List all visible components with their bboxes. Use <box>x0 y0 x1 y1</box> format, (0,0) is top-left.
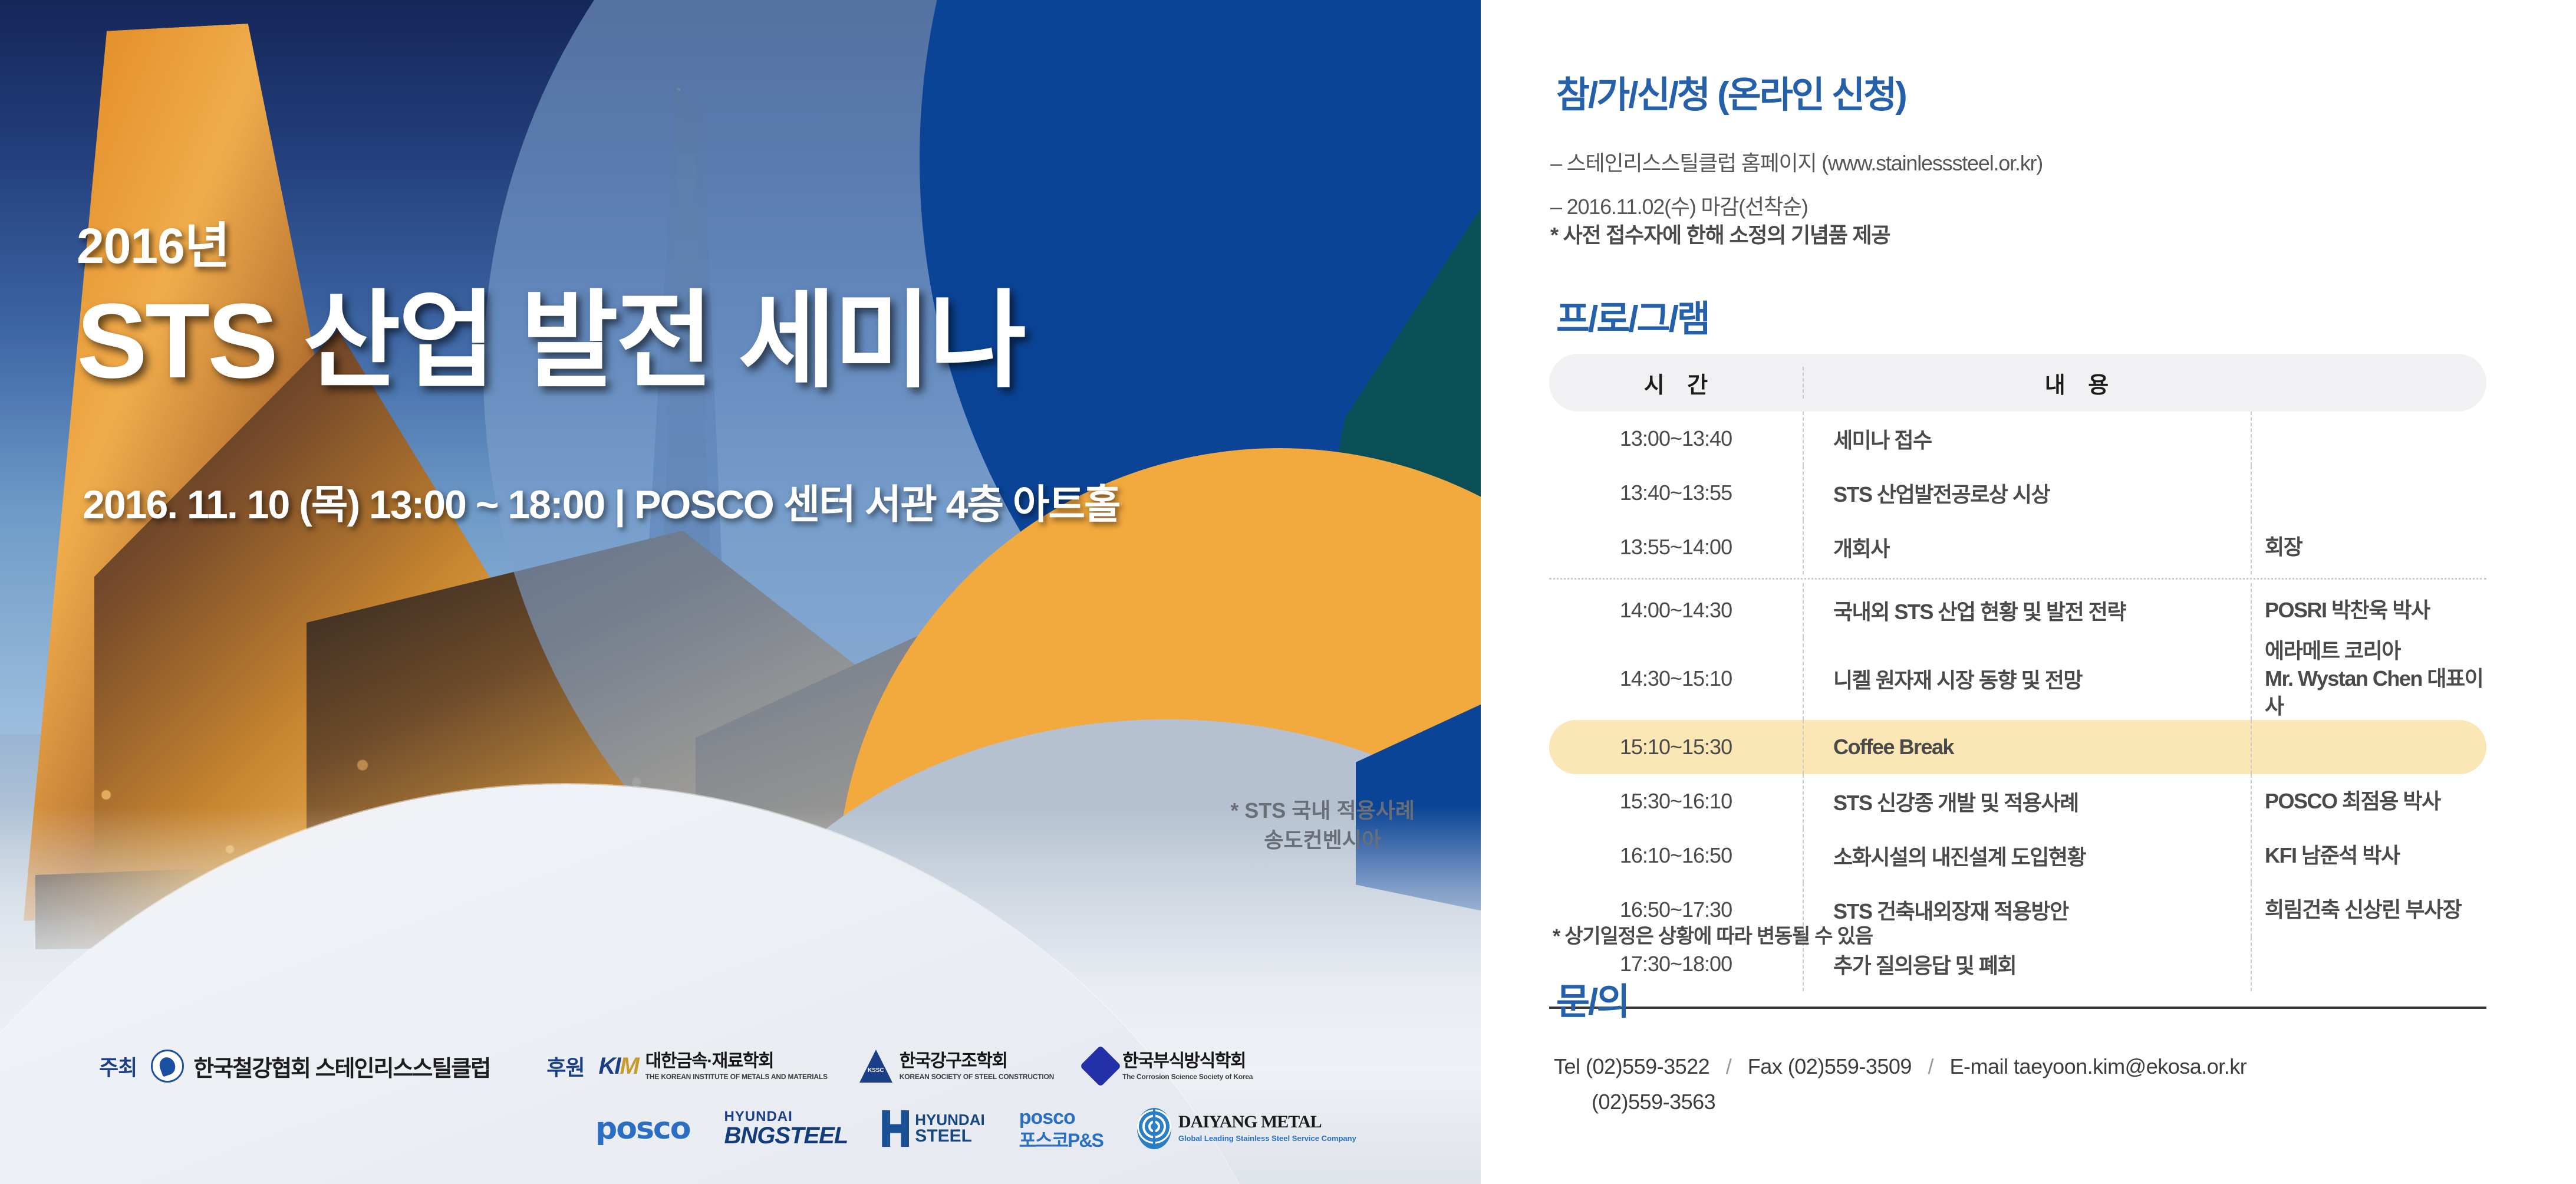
hyundai-bottom-word: STEEL <box>915 1127 984 1145</box>
column-divider-speaker <box>2251 520 2252 574</box>
logo-footer: 주최 한국철강협회 스테인리스스틸클럽 후원 KIM 대한금속·재료학회 THE… <box>0 1050 1481 1150</box>
daiyang-spiral-icon <box>1137 1108 1171 1149</box>
seminar-poster: 2016년 STS 산업 발전 세미나 2016. 11. 10 (목) 13:… <box>0 0 2576 1184</box>
cell-description: 니켈 원자재 시장 동향 및 전망 <box>1803 663 2251 694</box>
table-row: 15:30~16:10 STS 신강종 개발 및 적용사례 POSCO 최점용 … <box>1549 774 2486 828</box>
column-divider-speaker <box>2251 412 2252 466</box>
photo-caption: * STS 국내 적용사례 송도컨벤시아 <box>1230 796 1415 854</box>
cell-time: 13:40~13:55 <box>1549 481 1803 505</box>
logo-row-companies: posco HYUNDAI BNGSTEEL HYUNDAI STEEL pos… <box>0 1107 1481 1150</box>
apply-note: * 사전 접수자에 한해 소정의 기념품 제공 <box>1550 218 1890 249</box>
column-divider-speaker <box>2251 774 2252 828</box>
column-divider-time <box>1803 466 1804 520</box>
kim-logo-icon: KIM <box>598 1053 638 1080</box>
column-header-time: 시 간 <box>1549 367 1803 399</box>
contact-separator: / <box>1715 1054 1742 1078</box>
section-heading-apply: 참/가/신/청 (온라인 신청) <box>1556 65 1906 118</box>
company-logo-daiyang-metal: DAIYANG METAL Global Leading Stainless S… <box>1137 1108 1356 1149</box>
column-divider-speaker <box>2251 883 2252 937</box>
company-logo-hyundai-bng-steel: HYUNDAI BNGSTEEL <box>724 1110 848 1147</box>
society-name-ko: 대한금속·재료학회 <box>645 1053 828 1070</box>
cell-description: 세미나 접수 <box>1803 423 2251 454</box>
section-heading-contact: 문/의 <box>1556 972 1628 1025</box>
table-row: 14:00~14:30 국내외 STS 산업 현황 및 발전 전략 POSRI … <box>1549 583 2486 637</box>
column-divider-time <box>1803 583 1804 637</box>
page-title: STS 산업 발전 세미나 <box>77 287 1024 396</box>
tel-label: Tel <box>1554 1054 1580 1078</box>
column-divider-time <box>1803 637 1804 720</box>
society-logo-kim: KIM 대한금속·재료학회 THE KOREAN INSTITUTE OF ME… <box>598 1053 827 1080</box>
column-divider-time <box>1803 520 1804 574</box>
cell-description: STS 신강종 개발 및 적용사례 <box>1803 786 2251 817</box>
cell-time: 13:55~14:00 <box>1549 535 1803 560</box>
cell-description: 개회사 <box>1803 532 2251 563</box>
photo-caption-line1: * STS 국내 적용사례 <box>1230 796 1415 825</box>
table-row-coffee-break: 15:10~15:30 Coffee Break <box>1549 720 2486 774</box>
cssk-diamond-icon <box>1080 1045 1122 1087</box>
cell-time: 14:30~15:10 <box>1549 666 1803 691</box>
cell-time: 16:10~16:50 <box>1549 843 1803 868</box>
posco-wordmark: posco <box>595 1113 690 1144</box>
cell-description: 소화시설의 내진설계 도입현황 <box>1803 840 2251 871</box>
program-note: * 상기일정은 상황에 따라 변동될 수 있음 <box>1553 920 1873 949</box>
table-row: 13:00~13:40 세미나 접수 <box>1549 412 2486 466</box>
row-separator <box>1549 578 2486 580</box>
hyundai-h-icon <box>882 1110 909 1147</box>
cell-time: 14:00~14:30 <box>1549 598 1803 623</box>
contact-details: Tel (02)559-3522 / Fax (02)559-3509 / E-… <box>1554 1054 2246 1114</box>
column-divider-speaker <box>2251 828 2252 883</box>
table-row: 16:10~16:50 소화시설의 내진설계 도입현황 KFI 남준석 박사 <box>1549 828 2486 883</box>
column-header-content: 내 용 <box>1803 367 2486 399</box>
list-item: – 스테인리스스틸클럽 홈페이지 (www.stainlesssteel.or.… <box>1550 146 2043 177</box>
column-divider-time <box>1803 720 1804 774</box>
society-name-ko: 한국강구조학회 <box>900 1053 1054 1070</box>
table-row: 14:30~15:10 니켈 원자재 시장 동향 및 전망 에라메트 코리아 M… <box>1549 637 2486 720</box>
list-item: – 2016.11.02(수) 마감(선착순) <box>1550 190 2043 221</box>
pns-top-word: posco <box>1019 1107 1103 1127</box>
column-divider-speaker <box>2251 466 2252 520</box>
column-divider-speaker <box>2251 720 2252 774</box>
cell-description: 추가 질의응답 및 폐회 <box>1803 949 2251 979</box>
column-divider-time <box>1803 828 1804 883</box>
cell-time: 15:10~15:30 <box>1549 735 1803 759</box>
cell-speaker: POSRI 박찬욱 박사 <box>2251 597 2486 624</box>
poster-year: 2016년 <box>77 206 1024 278</box>
kssc-triangle-icon <box>859 1050 892 1083</box>
sponsor-label: 후원 <box>546 1051 584 1081</box>
email-value[interactable]: taeyoon.kim@ekosa.or.kr <box>2014 1054 2246 1078</box>
society-name-en: The Corrosion Science Society of Korea <box>1122 1073 1253 1080</box>
logo-row-organizers: 주최 한국철강협회 스테인리스스틸클럽 후원 KIM 대한금속·재료학회 THE… <box>0 1050 1481 1083</box>
company-logo-posco: posco <box>595 1113 690 1144</box>
cell-speaker: KFI 남준석 박사 <box>2251 842 2486 870</box>
table-row: 13:40~13:55 STS 산업발전공로상 시상 <box>1549 466 2486 520</box>
society-name-en: THE KOREAN INSTITUTE OF METALS AND MATER… <box>645 1073 828 1080</box>
column-divider-speaker <box>2251 583 2252 637</box>
cell-speaker: 회장 <box>2251 534 2486 561</box>
kosa-emblem-icon <box>151 1050 184 1083</box>
table-header-row: 시 간 내 용 <box>1549 354 2486 412</box>
cell-time: 15:30~16:10 <box>1549 789 1803 814</box>
column-divider-time <box>1803 412 1804 466</box>
bng-top-word: HYUNDAI <box>724 1110 848 1124</box>
poster-info-panel: 참/가/신/청 (온라인 신청) – 스테인리스스틸클럽 홈페이지 (www.s… <box>1481 0 2576 1184</box>
company-logo-posco-pns: posco 포스코P&S <box>1019 1107 1103 1150</box>
cell-time: 16:50~17:30 <box>1549 897 1803 922</box>
cell-speaker: POSCO 최점용 박사 <box>2251 788 2486 815</box>
program-table: 시 간 내 용 13:00~13:40 세미나 접수 13:40~13:55 S… <box>1549 354 2486 1009</box>
tel-value: (02)559-3522 <box>1586 1054 1709 1078</box>
cell-time: 13:00~13:40 <box>1549 426 1803 451</box>
fax-label: Fax <box>1748 1054 1783 1078</box>
society-name-en: KOREAN SOCIETY OF STEEL CONSTRUCTION <box>900 1073 1054 1080</box>
cell-speaker: 에라메트 코리아 Mr. Wystan Chen 대표이사 <box>2251 637 2486 720</box>
daiyang-wordmark: DAIYANG METAL <box>1178 1113 1356 1131</box>
bng-bottom-word: BNGSTEEL <box>724 1124 848 1147</box>
host-label: 주최 <box>99 1051 137 1081</box>
cell-description: 국내외 STS 산업 현황 및 발전 전략 <box>1803 595 2251 626</box>
daiyang-tagline: Global Leading Stainless Steel Service C… <box>1178 1133 1356 1144</box>
column-divider-speaker <box>2251 937 2252 991</box>
email-label: E-mail <box>1950 1054 2008 1078</box>
poster-title-block: 2016년 STS 산업 발전 세미나 <box>77 206 1024 396</box>
society-logo-kssc: 한국강구조학회 KOREAN SOCIETY OF STEEL CONSTRUC… <box>859 1050 1054 1083</box>
host-organization-name: 한국철강협회 스테인리스스틸클럽 <box>193 1050 490 1083</box>
fax-value: (02)559-3509 <box>1788 1054 1912 1078</box>
contact-primary-line: Tel (02)559-3522 / Fax (02)559-3509 / E-… <box>1554 1054 2246 1079</box>
society-logo-cssk: 한국부식방식학회 The Corrosion Science Society o… <box>1086 1051 1253 1081</box>
cell-description: Coffee Break <box>1803 735 2251 759</box>
column-divider-speaker <box>2251 637 2252 720</box>
company-logo-hyundai-steel: HYUNDAI STEEL <box>882 1110 984 1147</box>
poster-subtitle: 2016. 11. 10 (목) 13:00 ~ 18:00 | POSCO 센… <box>83 472 1120 530</box>
column-divider-time <box>1803 774 1804 828</box>
poster-visual-panel: 2016년 STS 산업 발전 세미나 2016. 11. 10 (목) 13:… <box>0 0 1481 1184</box>
table-bottom-rule <box>1549 1007 2486 1009</box>
tel-secondary-value: (02)559-3563 <box>1554 1090 2246 1114</box>
society-name-ko: 한국부식방식학회 <box>1122 1053 1253 1070</box>
cell-description: STS 산업발전공로상 시상 <box>1803 478 2251 508</box>
hyundai-top-word: HYUNDAI <box>915 1112 984 1127</box>
photo-caption-line2: 송도컨벤시아 <box>1230 825 1415 855</box>
section-heading-program: 프/로/그/램 <box>1556 289 1709 342</box>
contact-separator: / <box>1917 1054 1944 1078</box>
cell-speaker: 희림건축 신상린 부사장 <box>2251 896 2486 924</box>
pns-bottom-word: 포스코P&S <box>1019 1131 1103 1150</box>
table-row: 13:55~14:00 개회사 회장 <box>1549 520 2486 574</box>
